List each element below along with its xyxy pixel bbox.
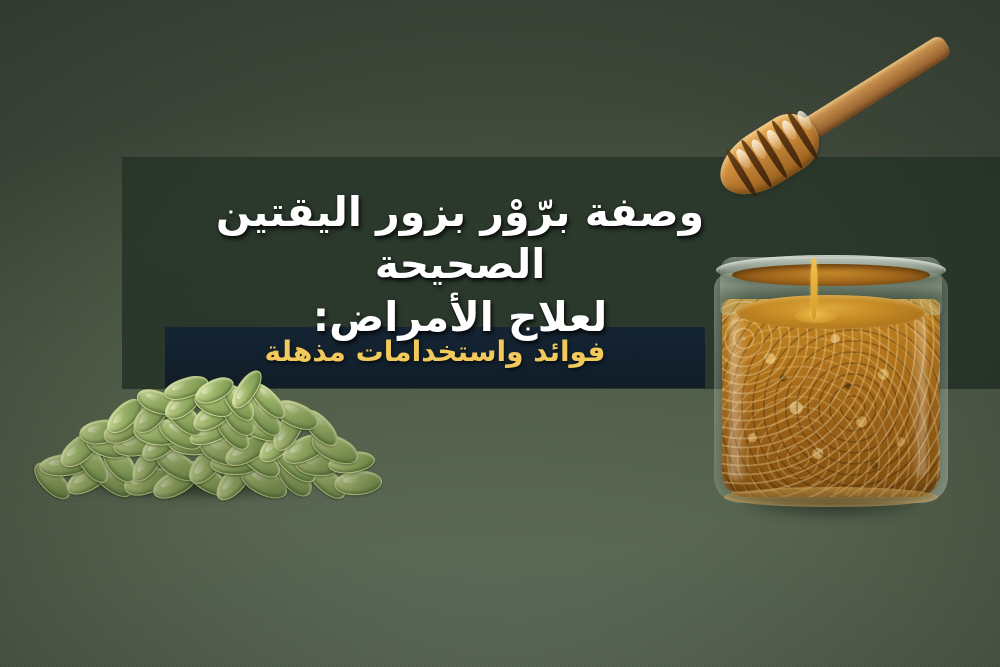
jar-base <box>724 487 938 507</box>
subheadline-text: فوائد واستخدامات مذهلة <box>165 337 705 368</box>
banner-image: وصفة برّوْر بزور اليقتين الصحيحة لعلاج ا… <box>0 0 1000 667</box>
headline-text: وصفة برّوْر بزور اليقتين الصحيحة لعلاج ا… <box>150 186 770 343</box>
pumpkin-seeds-pile <box>30 372 355 512</box>
jar-highlight-left <box>730 313 746 481</box>
jar-highlight-right <box>912 317 926 477</box>
honey-jar <box>706 255 956 517</box>
